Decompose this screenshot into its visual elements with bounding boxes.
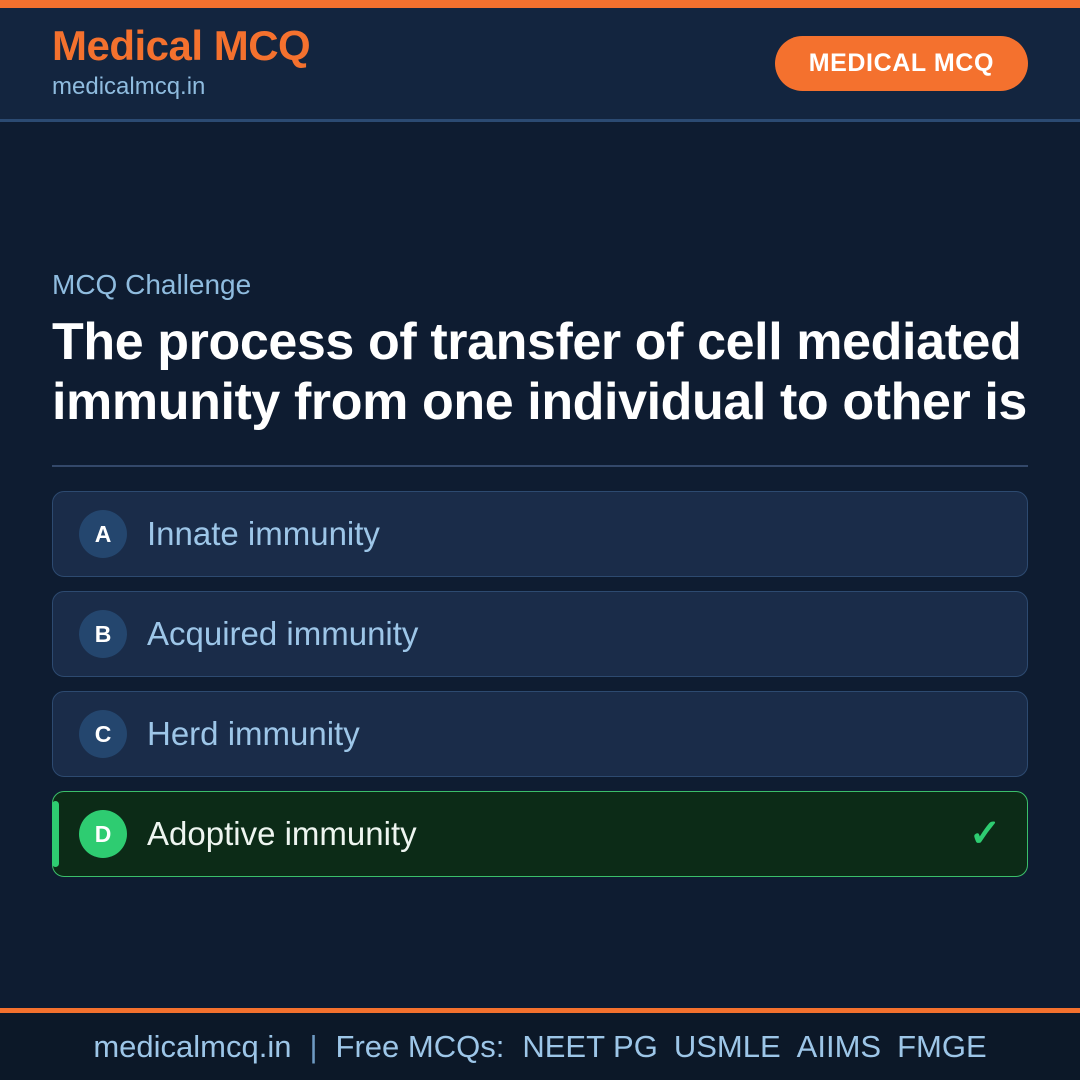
footer-inner: medicalmcq.in | Free MCQs: NEET PG USMLE… [93,1029,986,1065]
option-b[interactable]: B Acquired immunity [52,591,1028,677]
footer-separator: | [309,1029,317,1065]
mcq-card: Medical MCQ medicalmcq.in MEDICAL MCQ MC… [0,0,1080,1080]
option-a-text: Innate immunity [147,514,989,554]
option-c[interactable]: C Herd immunity [52,691,1028,777]
options-list: A Innate immunity B Acquired immunity C … [52,491,1028,877]
footer-exam-2: AIIMS [797,1029,881,1065]
check-icon: ✓ [969,815,1001,853]
footer-exam-0: NEET PG [522,1029,658,1065]
option-d-letter: D [79,810,127,858]
question-kicker: MCQ Challenge [52,268,1028,302]
option-c-letter: C [79,710,127,758]
question-text: The process of transfer of cell mediated… [52,312,1028,434]
question-block: MCQ Challenge The process of transfer of… [52,268,1028,433]
question-divider [52,465,1028,467]
footer-site: medicalmcq.in [93,1029,291,1065]
option-d-text: Adoptive immunity [147,814,957,854]
footer: medicalmcq.in | Free MCQs: NEET PG USMLE… [0,1008,1080,1080]
option-a-letter: A [79,510,127,558]
option-b-text: Acquired immunity [147,614,989,654]
footer-exam-1: USMLE [674,1029,781,1065]
header: Medical MCQ medicalmcq.in MEDICAL MCQ [0,8,1080,122]
main-content: MCQ Challenge The process of transfer of… [0,122,1080,1008]
brand-subtitle: medicalmcq.in [52,71,310,102]
footer-label: Free MCQs: [336,1029,505,1065]
brand-block: Medical MCQ medicalmcq.in [52,24,310,102]
header-badge: MEDICAL MCQ [775,36,1028,91]
brand-title: Medical MCQ [52,24,310,68]
footer-exam-tags: NEET PG USMLE AIIMS FMGE [522,1029,986,1065]
option-d[interactable]: D Adoptive immunity ✓ [52,791,1028,877]
option-a[interactable]: A Innate immunity [52,491,1028,577]
footer-exam-3: FMGE [897,1029,987,1065]
option-c-text: Herd immunity [147,714,989,754]
correct-accent-bar [52,801,59,867]
option-b-letter: B [79,610,127,658]
top-accent-bar [0,0,1080,8]
